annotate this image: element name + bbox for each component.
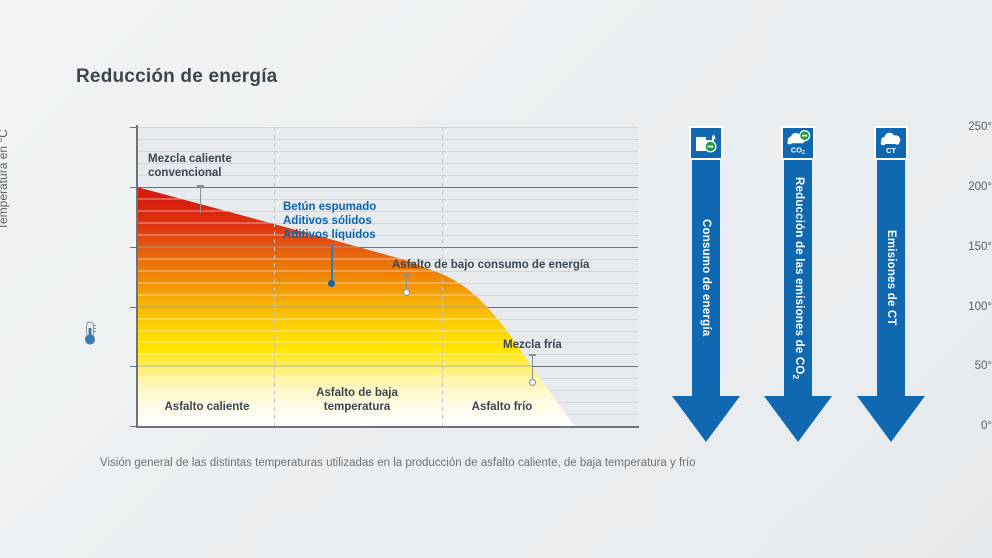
cloud-ct-icon: CT (874, 126, 908, 160)
fuel-can-minus-icon (689, 126, 723, 160)
callout-hot-mix-line2: convencional (148, 166, 232, 180)
arrow-energy-consumption-label: Consumo de energía (700, 219, 712, 336)
callout-low-energy-asphalt-line1: Asfalto de bajo consumo de energía (392, 258, 589, 272)
arrow-energy-consumption[interactable]: Consumo de energía (670, 126, 742, 442)
callout-hot-mix: Mezcla caliente convencional (148, 152, 232, 180)
category-label-warm-line2: temperatura (288, 400, 426, 414)
callout-cold-mix: Mezcla fría (503, 338, 562, 352)
arrow-co2-reduction[interactable]: CO2 Reducción de las emisiones de CO2 (762, 126, 834, 442)
y-axis-label: Temperatura en °C (0, 129, 10, 230)
category-label-cold: Asfalto frío (443, 400, 561, 414)
callout-foamed-bitumen-line3: Aditivos líquidos (283, 228, 376, 242)
category-label-hot: Asfalto caliente (145, 400, 269, 414)
figure-caption: Visión general de las distintas temperat… (100, 457, 696, 469)
callout-foamed-bitumen: Betún espumado Aditivos sólidos Aditivos… (283, 200, 376, 242)
callout-low-energy-asphalt-marker (403, 289, 410, 296)
callout-foamed-bitumen-marker (328, 280, 335, 287)
cloud-co2-minus-icon: CO2 (781, 126, 815, 160)
callout-low-energy-asphalt: Asfalto de bajo consumo de energía (392, 258, 589, 272)
page-title: Reducción de energía (76, 66, 277, 88)
y-axis-line (136, 125, 138, 428)
category-label-cold-line1: Asfalto frío (443, 400, 561, 414)
arrow-ct-emissions-label: Emisiones de CT (885, 230, 897, 326)
arrow-energy-consumption-body: Consumo de energía (692, 160, 720, 396)
arrow-co2-reduction-body: Reducción de las emisiones de CO2 (784, 160, 812, 396)
callout-hot-mix-line1: Mezcla caliente (148, 152, 232, 166)
svg-text:CO2: CO2 (791, 146, 805, 157)
category-separator-1 (274, 127, 275, 426)
arrow-co2-reduction-label: Reducción de las emisiones de CO2 (791, 177, 805, 379)
arrow-ct-emissions-head (857, 396, 925, 442)
category-label-warm: Asfalto de baja temperatura (288, 386, 426, 414)
svg-text:CT: CT (886, 146, 896, 155)
callout-cold-mix-leader (532, 354, 533, 382)
category-label-hot-line1: Asfalto caliente (145, 400, 269, 414)
callout-hot-mix-leader (200, 185, 201, 213)
category-label-warm-line1: Asfalto de baja (288, 386, 426, 400)
arrow-ct-emissions-body: Emisiones de CT (877, 160, 905, 396)
callout-foamed-bitumen-leader (331, 244, 333, 283)
callout-cold-mix-line1: Mezcla fría (503, 338, 562, 352)
category-separator-2 (442, 127, 443, 426)
callout-foamed-bitumen-line2: Aditivos sólidos (283, 214, 376, 228)
infographic-stage: Reducción de energía Temperatura en °C 2… (0, 0, 992, 558)
arrow-ct-emissions[interactable]: CT Emisiones de CT (855, 126, 927, 442)
callout-cold-mix-marker (529, 379, 536, 386)
arrow-energy-consumption-head (672, 396, 740, 442)
callout-foamed-bitumen-line1: Betún espumado (283, 200, 376, 214)
thermometer-icon (80, 320, 100, 346)
x-axis-line (136, 426, 639, 428)
arrow-co2-reduction-head (764, 396, 832, 442)
